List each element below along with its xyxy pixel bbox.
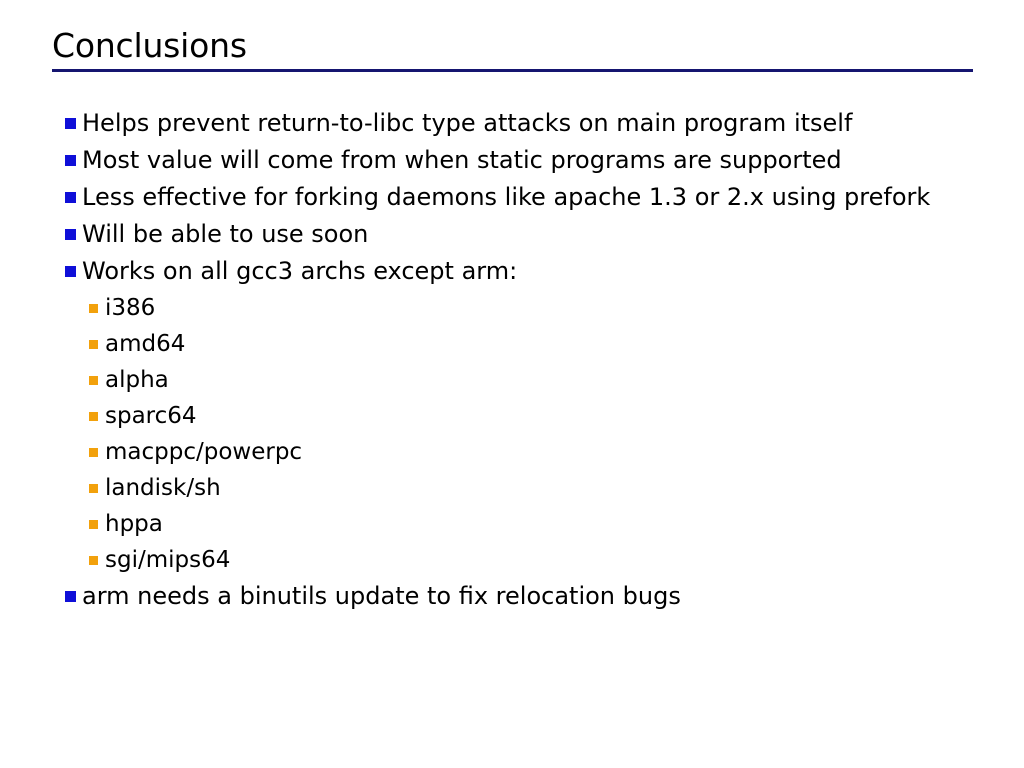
bullet-item-label: Less effective for forking daemons like … [82, 183, 930, 211]
square-bullet-icon-primary [65, 155, 76, 166]
slide-title-block: Conclusions [52, 26, 974, 72]
bullet-item: Works on all gcc3 archs except arm: [0, 254, 1024, 291]
square-bullet-icon-secondary [89, 304, 98, 313]
square-bullet-icon-primary [65, 229, 76, 240]
bullet-item: Less effective for forking daemons like … [0, 180, 1024, 217]
square-bullet-icon-primary [65, 591, 76, 602]
bullet-item-label: amd64 [105, 331, 185, 357]
bullet-item-label: sgi/mips64 [105, 547, 230, 573]
bullet-item-label: Works on all gcc3 archs except arm: [82, 257, 517, 285]
bullet-item: Will be able to use soon [0, 217, 1024, 254]
slide-body-outline: Helps prevent return-to-libc type attack… [0, 106, 1024, 616]
square-bullet-icon-primary [65, 266, 76, 277]
bullet-item: Most value will come from when static pr… [0, 143, 1024, 180]
page-title: Conclusions [52, 26, 974, 66]
square-bullet-icon-secondary [89, 556, 98, 565]
bullet-item-label: Helps prevent return-to-libc type attack… [82, 109, 852, 137]
bullet-item-label: i386 [105, 295, 155, 321]
bullet-item: arm needs a binutils update to fix reloc… [0, 579, 1024, 616]
square-bullet-icon-primary [65, 118, 76, 129]
sub-bullet-item: i386 [0, 291, 1024, 327]
bullet-item-label: macppc/powerpc [105, 439, 302, 465]
bullet-item-label: arm needs a binutils update to fix reloc… [82, 582, 681, 610]
outline-list: Helps prevent return-to-libc type attack… [0, 106, 1024, 616]
bullet-item-label: sparc64 [105, 403, 197, 429]
sub-bullet-item: sparc64 [0, 399, 1024, 435]
sub-bullet-item: macppc/powerpc [0, 435, 1024, 471]
bullet-item: Helps prevent return-to-libc type attack… [0, 106, 1024, 143]
sub-bullet-item: landisk/sh [0, 471, 1024, 507]
bullet-item-label: alpha [105, 367, 169, 393]
square-bullet-icon-secondary [89, 448, 98, 457]
sub-bullet-item: amd64 [0, 327, 1024, 363]
square-bullet-icon-secondary [89, 520, 98, 529]
square-bullet-icon-secondary [89, 340, 98, 349]
bullet-item-label: hppa [105, 511, 163, 537]
square-bullet-icon-secondary [89, 484, 98, 493]
title-underline-rule [52, 69, 973, 72]
bullet-item-label: landisk/sh [105, 475, 221, 501]
square-bullet-icon-secondary [89, 376, 98, 385]
square-bullet-icon-primary [65, 192, 76, 203]
sub-bullet-item: hppa [0, 507, 1024, 543]
bullet-item-label: Will be able to use soon [82, 220, 368, 248]
presentation-slide: Conclusions Helps prevent return-to-libc… [0, 0, 1024, 768]
square-bullet-icon-secondary [89, 412, 98, 421]
sub-bullet-item: sgi/mips64 [0, 543, 1024, 579]
bullet-item-label: Most value will come from when static pr… [82, 146, 842, 174]
sub-bullet-item: alpha [0, 363, 1024, 399]
